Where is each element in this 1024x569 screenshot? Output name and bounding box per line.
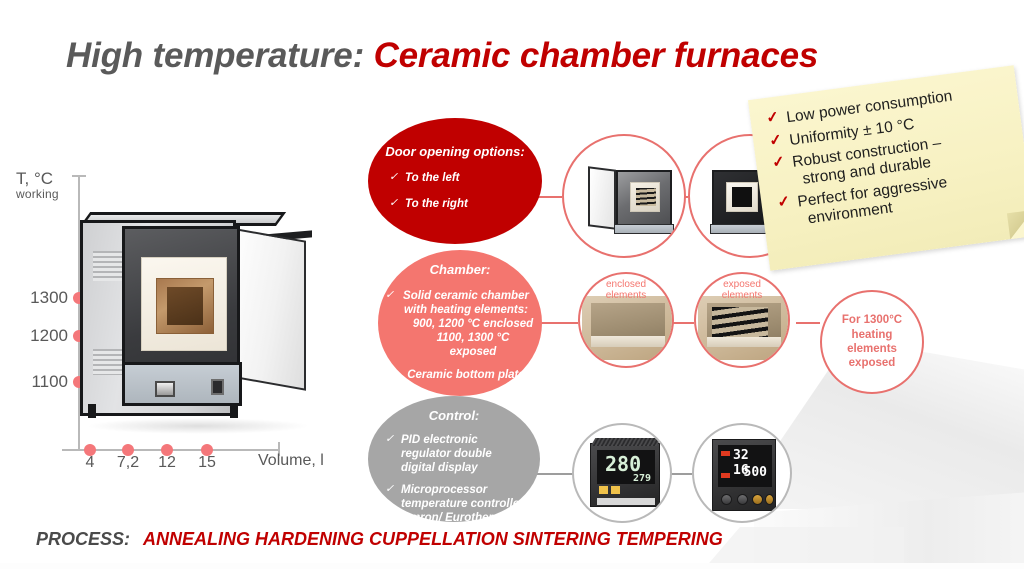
chart-y-axis-label-sub: working (16, 188, 59, 200)
heating-coils (712, 307, 768, 339)
eurotherm-button-4[interactable] (765, 494, 774, 505)
check-icon: ✓ (385, 433, 394, 446)
label-exposed-line2: elements (694, 290, 790, 301)
mini-furnace-plinth (710, 224, 772, 234)
chamber-bottom-plate (591, 336, 665, 347)
furnace-shadow (86, 418, 310, 434)
photo-circle-door-left[interactable] (562, 134, 686, 258)
bubble-chamber-heading: Chamber: (378, 250, 542, 277)
text-circle-1300c-note[interactable]: For 1300°C heating elements exposed (820, 290, 924, 394)
bubble-door-heading: Door opening options: (368, 118, 542, 159)
photo-circle-eurotherm-controller[interactable]: 32 16 500 (692, 423, 792, 523)
bubble-control-heading: Control: (368, 396, 540, 423)
label-enclosed-line1: enclosed (578, 279, 674, 290)
label-enclosed-elements: enclosed elements (578, 279, 674, 301)
mini-furnace-left-open (586, 168, 674, 230)
circle-note-line-4: exposed (842, 356, 902, 370)
check-icon: ✓ (385, 368, 394, 381)
chart-x-tick-15: 15 (184, 454, 230, 472)
eurotherm-button-2[interactable] (737, 494, 748, 505)
bubble-control-item-label: PID electronic regulator double digital … (401, 434, 492, 474)
chamber-photo-exposed (698, 296, 790, 360)
eurotherm-controller-body: 32 16 500 (712, 439, 776, 511)
chart-y-tick-1200: 1200 (12, 326, 68, 346)
bubble-control[interactable]: Control: ✓ PID electronic regulator doub… (368, 396, 540, 522)
title-main: Ceramic chamber furnaces (374, 36, 819, 75)
bubble-door-item: ✓ To the right (388, 197, 526, 211)
process-list: PROCESS: ANNEALING HARDENING CUPPELLATIO… (36, 529, 723, 550)
chart-y-tick-1100: 1100 (12, 372, 68, 392)
check-icon: ✓ (385, 483, 394, 496)
page-title: High temperature: Ceramic chamber furnac… (66, 36, 818, 76)
chart-x-axis-label: Volume, l (258, 452, 324, 470)
check-icon: ✓ (385, 289, 394, 302)
check-icon: ✓ (768, 132, 783, 150)
furnace-knob-icon[interactable] (155, 381, 175, 397)
bubble-control-item: ✓ PID electronic regulator double digita… (384, 433, 528, 475)
process-label: PROCESS: (36, 529, 130, 549)
chamber-bottom-plate (707, 337, 781, 347)
label-exposed-line1: exposed (694, 279, 790, 290)
mini-furnace-plinth (614, 224, 674, 234)
eurotherm-led-upper-icon (721, 451, 730, 456)
check-icon: ✓ (389, 171, 398, 184)
furnace-legs (88, 404, 238, 418)
bubble-door-item: ✓ To the left (388, 171, 526, 185)
eurotherm-display: 32 16 500 (718, 445, 772, 487)
mini-furnace-door-left (588, 166, 616, 229)
furnace-control-plinth (122, 362, 242, 406)
omron-button-strip[interactable] (597, 498, 655, 505)
furnace-power-switch-icon[interactable] (211, 379, 224, 395)
chart-y-axis-cap (72, 175, 86, 177)
main-furnace-photo (80, 212, 315, 440)
bubble-door-options[interactable]: Door opening options: ✓ To the left ✓ To… (368, 118, 542, 244)
furnace-chamber-cavity (167, 287, 203, 325)
furnace-insulation-ring (141, 257, 227, 351)
bubble-chamber[interactable]: Chamber: ✓ Solid ceramic chamber with he… (378, 250, 542, 396)
bubble-chamber-item: ✓ Ceramic bottom plate (384, 368, 534, 382)
omron-led-1-icon (599, 486, 608, 494)
bubble-chamber-item-sub1: 900, 1200 °C enclosed (398, 317, 534, 331)
furnace-leg (230, 404, 238, 418)
omron-display: 280 279 (597, 450, 655, 484)
connector-chamber-photos (672, 322, 694, 324)
check-icon: ✓ (765, 109, 780, 127)
bubble-door-item-label: To the left (405, 172, 460, 184)
label-exposed-elements: exposed elements (694, 279, 790, 301)
slide-canvas: High temperature: Ceramic chamber furnac… (0, 0, 1024, 569)
eurotherm-led-lower-icon (721, 473, 730, 478)
chart-y-tick-1300: 1300 (12, 288, 68, 308)
furnace-leg (88, 404, 96, 418)
connector-photo-to-note-circle (796, 322, 820, 324)
chart-y-axis-label: T, °C working (16, 170, 59, 200)
chamber-photo-enclosed (582, 296, 674, 360)
eurotherm-sv-value: 500 (744, 465, 767, 480)
omron-heatsink (591, 438, 662, 446)
furnace-chamber-mouth (156, 278, 214, 334)
omron-sv-value: 279 (633, 473, 651, 484)
bubble-chamber-item-sub2: 1100, 1300 °C exposed (398, 331, 534, 359)
title-prefix: High temperature: (66, 36, 364, 75)
note-corner-fold-icon (1007, 210, 1024, 239)
check-icon: ✓ (389, 197, 398, 210)
bubble-chamber-item-label: Solid ceramic chamber with heating eleme… (403, 290, 529, 316)
chart-y-axis-label-main: T, °C (16, 169, 53, 188)
omron-controller-body: 280 279 (590, 443, 660, 507)
mini-furnace-coils (636, 188, 656, 206)
connector-chamber-to-photo1 (536, 322, 578, 324)
bubble-chamber-item-label: Ceramic bottom plate (407, 369, 525, 381)
photo-circle-omron-controller[interactable]: 280 279 (572, 423, 672, 523)
bubble-control-item: ✓ Microprocessor temperature controller … (384, 483, 528, 525)
omron-led-2-icon (611, 486, 620, 494)
circle-note-line-1: For 1300°C (842, 313, 902, 327)
bubble-door-item-label: To the right (405, 198, 468, 210)
mini-furnace-cavity (732, 187, 752, 207)
bubble-chamber-item: ✓ Solid ceramic chamber with heating ele… (384, 289, 534, 359)
label-enclosed-line2: elements (578, 290, 674, 301)
circle-note-line-2: heating (842, 328, 902, 342)
check-icon: ✓ (771, 154, 786, 172)
bubble-control-item-label: Microprocessor temperature controller Om… (401, 484, 524, 524)
process-items: ANNEALING HARDENING CUPPELLATION SINTERI… (143, 529, 723, 549)
check-icon: ✓ (777, 194, 792, 212)
circle-note-line-3: elements (842, 342, 902, 356)
background-bottom-bar (0, 563, 1024, 569)
eurotherm-button-1[interactable] (721, 494, 732, 505)
benefits-sticky-note[interactable]: ✓ Low power consumption ✓ Uniformity ± 1… (748, 65, 1024, 271)
eurotherm-button-3[interactable] (752, 494, 763, 505)
